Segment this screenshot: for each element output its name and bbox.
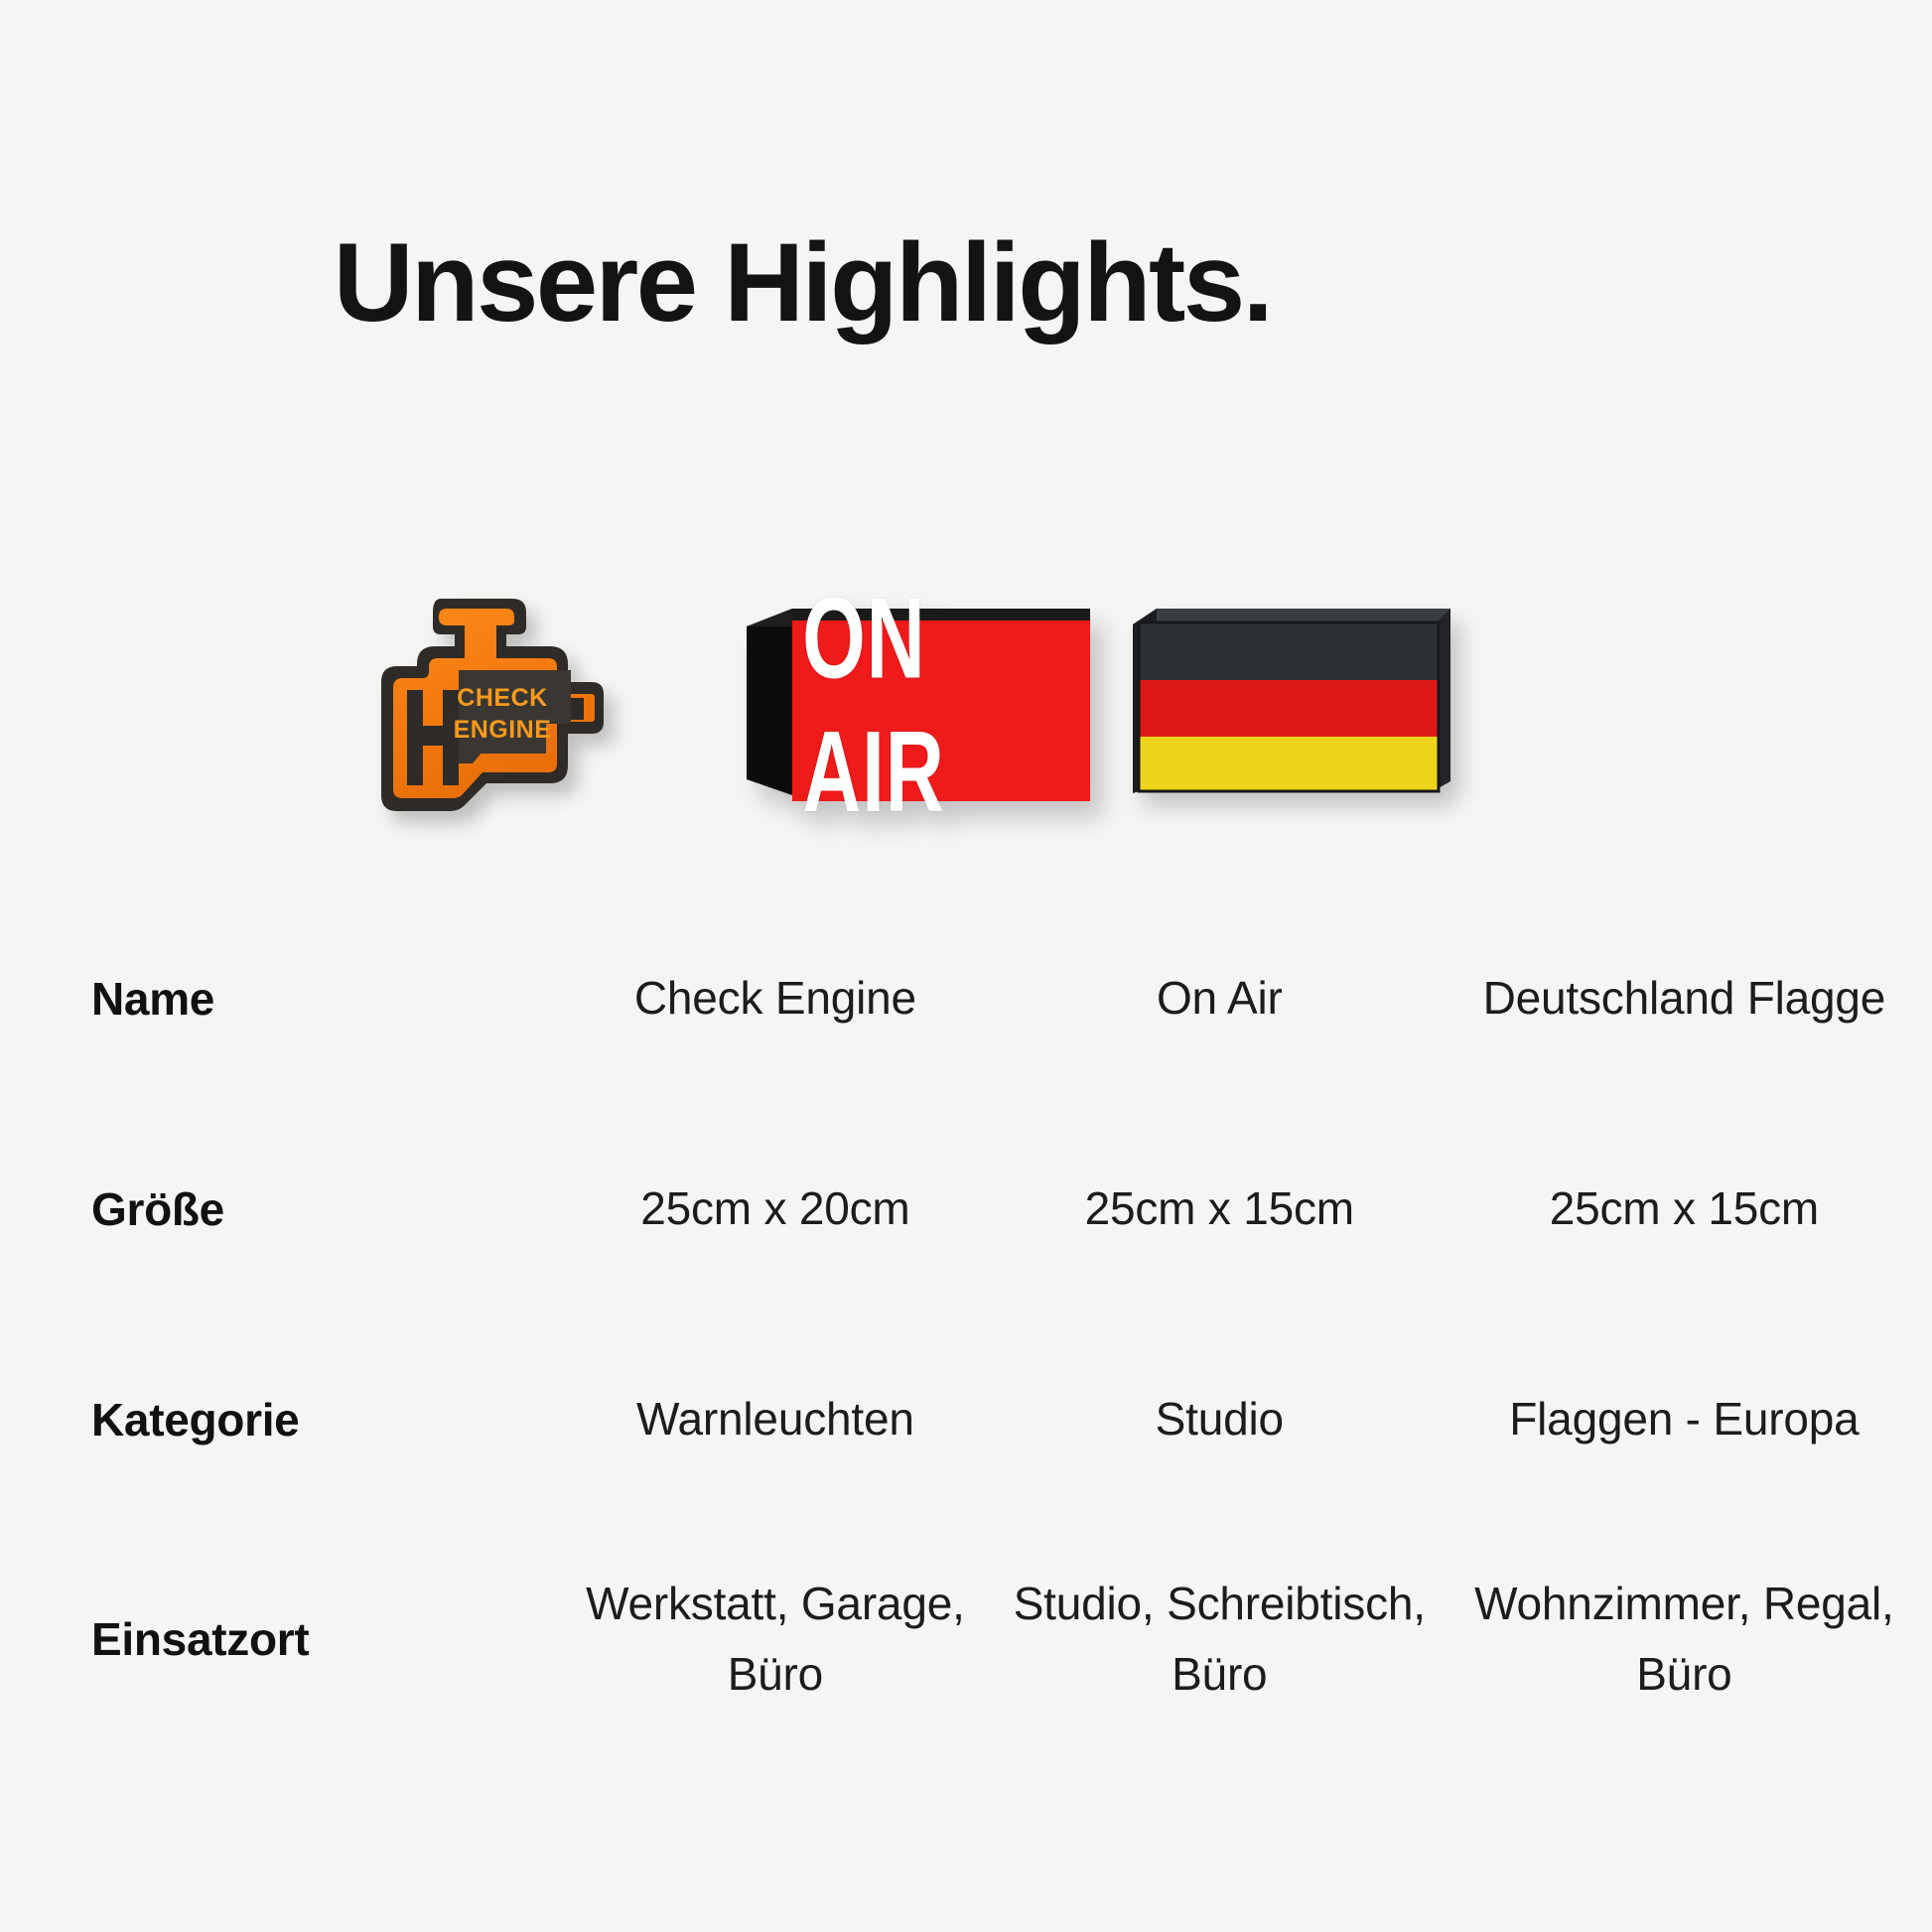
cell-kategorie-deutschland-flagge: Flaggen - Europa	[1437, 1314, 1932, 1525]
row-label-einsatzort: Einsatzort	[0, 1525, 548, 1753]
table-row: Name Check Engine On Air Deutschland Fla…	[0, 894, 1932, 1104]
highlights-page: Unsere Highlights.	[0, 0, 1932, 1932]
cell-groesse-deutschland-flagge: 25cm x 15cm	[1437, 1104, 1932, 1314]
cell-groesse-check-engine: 25cm x 20cm	[548, 1104, 1003, 1314]
cell-groesse-on-air: 25cm x 15cm	[1003, 1104, 1437, 1314]
row-label-name: Name	[0, 894, 548, 1104]
cell-einsatzort-deutschland-flagge: Wohnzimmer, Regal, Büro	[1437, 1525, 1932, 1753]
cell-name-deutschland-flagge: Deutschland Flagge	[1437, 894, 1932, 1104]
cell-name-check-engine: Check Engine	[548, 894, 1003, 1104]
product-image-deutschland-flagge[interactable]	[1112, 536, 1469, 864]
table-row: Größe 25cm x 20cm 25cm x 15cm 25cm x 15c…	[0, 1104, 1932, 1314]
page-title: Unsere Highlights.	[0, 221, 1932, 344]
table-row: Kategorie Warnleuchten Studio Flaggen - …	[0, 1314, 1932, 1525]
product-spec-table: Name Check Engine On Air Deutschland Fla…	[0, 894, 1932, 1753]
german-flag-icon	[1127, 599, 1454, 802]
cell-einsatzort-check-engine: Werkstatt, Garage, Büro	[548, 1525, 1003, 1753]
svg-text:CHECK: CHECK	[457, 684, 547, 712]
product-image-on-air[interactable]: ON AIR	[740, 536, 1097, 864]
cell-kategorie-check-engine: Warnleuchten	[548, 1314, 1003, 1525]
table-row: Einsatzort Werkstatt, Garage, Büro Studi…	[0, 1525, 1932, 1753]
row-label-groesse: Größe	[0, 1104, 548, 1314]
on-air-sign-icon: ON AIR	[741, 591, 1096, 809]
product-image-row: CHECK ENGINE ON AIR	[0, 536, 1932, 864]
cell-name-on-air: On Air	[1003, 894, 1437, 1104]
svg-text:ENGINE: ENGINE	[454, 716, 552, 744]
check-engine-icon: CHECK ENGINE	[338, 571, 725, 829]
product-image-check-engine[interactable]: CHECK ENGINE	[328, 536, 735, 864]
cell-kategorie-on-air: Studio	[1003, 1314, 1437, 1525]
row-label-kategorie: Kategorie	[0, 1314, 548, 1525]
cell-einsatzort-on-air: Studio, Schreibtisch, Büro	[1003, 1525, 1437, 1753]
